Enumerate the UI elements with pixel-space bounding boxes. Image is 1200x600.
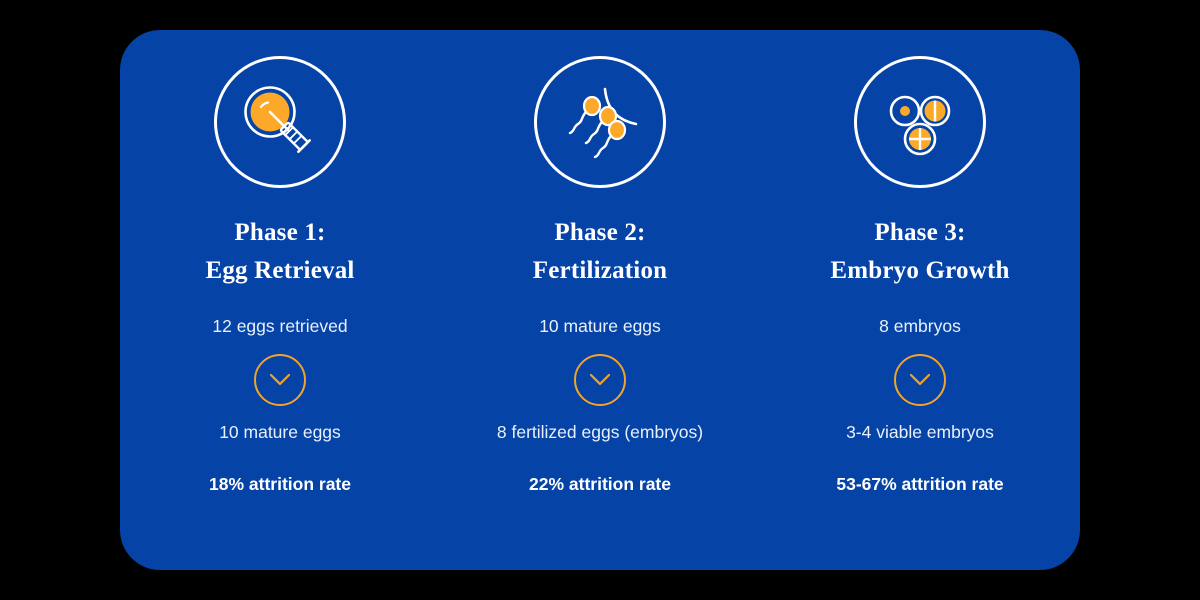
phase-title-2: Phase 2: Fertilization [533, 214, 668, 290]
phase-column-3: Phase 3: Embryo Growth 8 embryos 3-4 via… [760, 30, 1080, 495]
phase-output-label: 8 fertilized eggs (embryos) [497, 422, 703, 443]
chevron-down-icon [894, 354, 946, 406]
phase-flow-1: 12 eggs retrieved 10 mature eggs [212, 316, 347, 443]
phase-output-label: 10 mature eggs [219, 422, 341, 443]
chevron-down-icon [574, 354, 626, 406]
phase-input-label: 12 eggs retrieved [212, 316, 347, 337]
phase-title-line2: Fertilization [533, 252, 668, 290]
phase-input-label: 8 embryos [879, 316, 961, 337]
phase-input-label: 10 mature eggs [539, 316, 661, 337]
phase-title-1: Phase 1: Egg Retrieval [205, 214, 354, 290]
egg-retrieval-icon [214, 56, 346, 188]
phase-flow-2: 10 mature eggs 8 fertilized eggs (embryo… [497, 316, 703, 443]
phase-title-line1: Phase 1: [234, 219, 325, 246]
phase-title-line1: Phase 2: [554, 219, 645, 246]
attrition-rate-3: 53-67% attrition rate [836, 474, 1003, 495]
phase-title-line2: Embryo Growth [830, 252, 1009, 290]
ivf-phases-card: Phase 1: Egg Retrieval 12 eggs retrieved… [120, 30, 1080, 570]
chevron-down-icon [254, 354, 306, 406]
infographic-canvas: Phase 1: Egg Retrieval 12 eggs retrieved… [0, 0, 1200, 600]
phase-title-line2: Egg Retrieval [205, 252, 354, 290]
phase-title-line1: Phase 3: [874, 219, 965, 246]
fertilization-sperm-icon [534, 56, 666, 188]
phase-output-label: 3-4 viable embryos [846, 422, 994, 443]
phase-column-2: Phase 2: Fertilization 10 mature eggs 8 … [440, 30, 760, 495]
phase-title-3: Phase 3: Embryo Growth [830, 214, 1009, 290]
phase-flow-3: 8 embryos 3-4 viable embryos [846, 316, 994, 443]
attrition-rate-2: 22% attrition rate [529, 474, 671, 495]
phase-column-1: Phase 1: Egg Retrieval 12 eggs retrieved… [120, 30, 440, 495]
attrition-rate-1: 18% attrition rate [209, 474, 351, 495]
embryo-growth-cells-icon [854, 56, 986, 188]
